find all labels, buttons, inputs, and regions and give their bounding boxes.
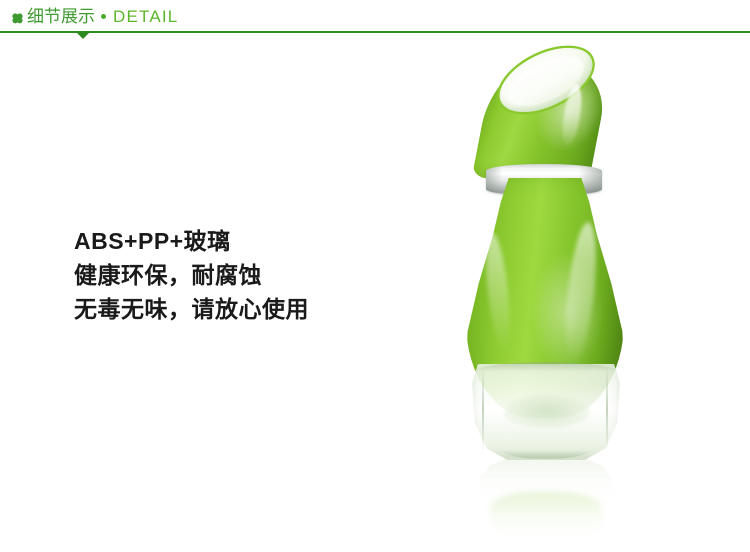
detail-section-page: 细节展示 DETAIL ABS+PP+玻璃 健康环保，耐腐蚀 无毒无味，请放心使… [0, 0, 750, 552]
glass-interior-content [504, 394, 590, 428]
product-image-grinder [430, 46, 670, 526]
section-title-cn: 细节展示 [27, 7, 95, 27]
title-separator-dot [101, 14, 106, 19]
glass-facet-left [482, 366, 484, 452]
header-divider-rule [0, 31, 750, 33]
section-header: 细节展示 DETAIL [0, 0, 750, 38]
section-title-en: DETAIL [113, 7, 178, 27]
description-line-1: ABS+PP+玻璃 [74, 224, 404, 258]
grinder-cap [478, 54, 606, 182]
description-line-2: 健康环保，耐腐蚀 [74, 258, 404, 292]
description-line-3: 无毒无味，请放心使用 [74, 292, 404, 326]
clover-icon [11, 12, 24, 25]
product-render-stage [430, 46, 670, 526]
glass-facet-right [606, 366, 608, 452]
product-reflection [476, 458, 616, 552]
material-description-block: ABS+PP+玻璃 健康环保，耐腐蚀 无毒无味，请放心使用 [74, 224, 404, 326]
reflection-fade-mask [476, 458, 616, 552]
section-header-content: 细节展示 DETAIL [11, 4, 178, 30]
header-down-arrow-icon [77, 33, 89, 39]
